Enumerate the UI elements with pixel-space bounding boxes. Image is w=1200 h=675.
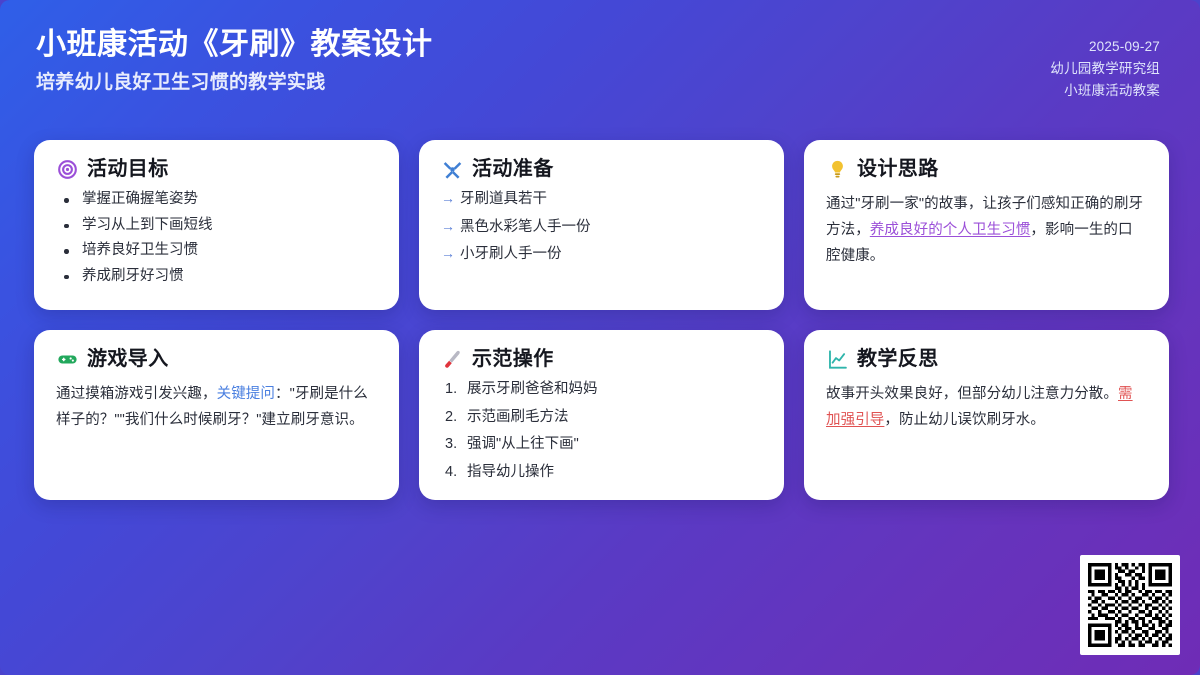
page-title: 小班康活动《牙刷》教案设计 [36,26,433,64]
card-list: 牙刷道具若干黑色水彩笔人手一份小牙刷人手一份 [441,192,762,262]
card-activity-preparation: 活动准备牙刷道具若干黑色水彩笔人手一份小牙刷人手一份 [419,140,784,310]
card-activity-goals: 活动目标掌握正确握笔姿势学习从上到下画短线培养良好卫生习惯养成刷牙好习惯 [34,140,399,310]
list-item: 培养良好卫生习惯 [62,243,377,258]
card-title: 游戏导入 [87,348,169,370]
paintbrush-icon [441,348,463,370]
target-icon [56,158,78,180]
card-title: 教学反思 [857,348,939,370]
card-teaching-reflection: 教学反思故事开头效果良好，但部分幼儿注意力分散。需加强引导，防止幼儿误饮刷牙水。 [804,330,1169,500]
body-text: 通过摸箱游戏引发兴趣， [56,386,217,402]
list-item: 小牙刷人手一份 [441,247,762,262]
card-grid: 活动目标掌握正确握笔姿势学习从上到下画短线培养良好卫生习惯养成刷牙好习惯活动准备… [34,140,1169,500]
list-item: 掌握正确握笔姿势 [62,192,377,207]
card-title: 设计思路 [857,158,939,180]
card-title: 活动目标 [87,158,169,180]
card-paragraph: 通过"牙刷一家"的故事，让孩子们感知正确的刷牙方法，养成良好的个人卫生习惯，影响… [826,192,1147,269]
lightbulb-icon [826,158,848,180]
card-header: 游戏导入 [56,348,377,370]
list-item: 黑色水彩笔人手一份 [441,220,762,235]
card-demonstration: 示范操作展示牙刷爸爸和妈妈示范画刷毛方法强调"从上往下画"指导幼儿操作 [419,330,784,500]
card-header: 示范操作 [441,348,762,370]
list-item: 展示牙刷爸爸和妈妈 [445,382,762,397]
list-item: 示范画刷毛方法 [445,410,762,425]
highlighted-text[interactable]: 养成良好的个人卫生习惯 [870,222,1031,238]
highlighted-text[interactable]: 关键提问 [217,386,275,402]
page-subtitle: 培养幼儿良好卫生习惯的教学实践 [36,71,433,96]
header-title-group: 小班康活动《牙刷》教案设计 培养幼儿良好卫生习惯的教学实践 [36,26,433,96]
card-paragraph: 故事开头效果良好，但部分幼儿注意力分散。需加强引导，防止幼儿误饮刷牙水。 [826,382,1147,434]
body-text: ，防止幼儿误饮刷牙水。 [884,412,1045,428]
slide-root: 小班康活动《牙刷》教案设计 培养幼儿良好卫生习惯的教学实践 2025-09-27… [0,0,1200,675]
meta-organization: 幼儿园教学研究组 [1050,58,1160,80]
card-title: 示范操作 [472,348,554,370]
card-game-introduction: 游戏导入通过摸箱游戏引发兴趣，关键提问："牙刷是什么样子的？""我们什么时候刷牙… [34,330,399,500]
card-paragraph: 通过摸箱游戏引发兴趣，关键提问："牙刷是什么样子的？""我们什么时候刷牙？"建立… [56,382,377,434]
qr-code-container[interactable] [1080,555,1180,655]
list-item: 牙刷道具若干 [441,192,762,207]
body-text: 故事开头效果良好，但部分幼儿注意力分散。 [826,386,1118,402]
slide-header: 小班康活动《牙刷》教案设计 培养幼儿良好卫生习惯的教学实践 2025-09-27… [0,0,1200,128]
list-item: 指导幼儿操作 [445,465,762,480]
list-item: 学习从上到下画短线 [62,218,377,233]
qr-code [1088,563,1172,647]
card-title: 活动准备 [472,158,554,180]
meta-date: 2025-09-27 [1089,36,1160,58]
card-header: 设计思路 [826,158,1147,180]
tools-icon [441,158,463,180]
list-item: 养成刷牙好习惯 [62,269,377,284]
card-header: 活动准备 [441,158,762,180]
card-list: 掌握正确握笔姿势学习从上到下画短线培养良好卫生习惯养成刷牙好习惯 [62,192,377,283]
list-item: 强调"从上往下画" [445,437,762,452]
line-chart-icon [826,348,848,370]
gamepad-icon [56,348,78,370]
header-meta-group: 2025-09-27 幼儿园教学研究组 小班康活动教案 [1050,26,1160,102]
card-header: 教学反思 [826,348,1147,370]
card-header: 活动目标 [56,158,377,180]
card-list: 展示牙刷爸爸和妈妈示范画刷毛方法强调"从上往下画"指导幼儿操作 [445,382,762,479]
meta-doc-type: 小班康活动教案 [1064,80,1160,102]
card-design-approach: 设计思路通过"牙刷一家"的故事，让孩子们感知正确的刷牙方法，养成良好的个人卫生习… [804,140,1169,310]
